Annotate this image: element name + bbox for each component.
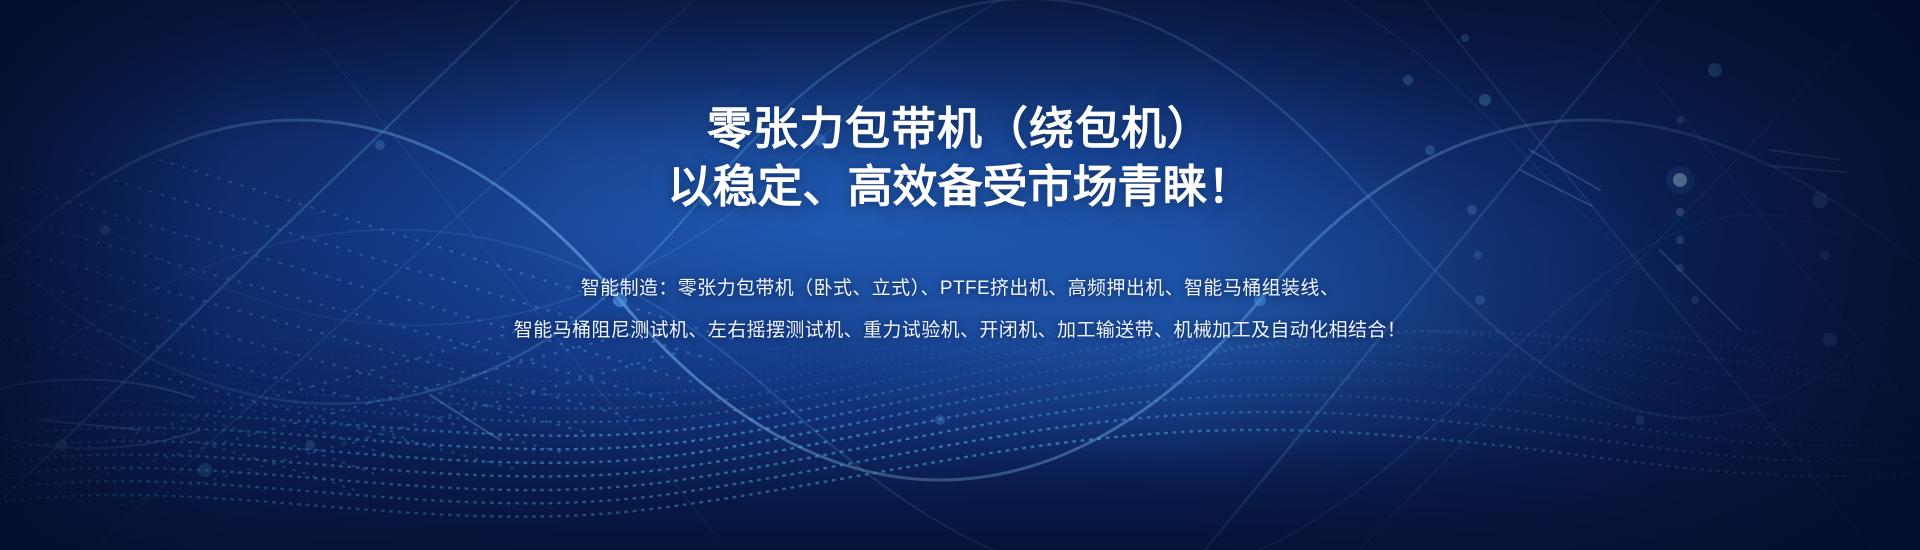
subtext-line-1: 智能制造：零张力包带机（卧式、立式）、PTFE挤出机、高频押出机、智能马桶组装线… xyxy=(514,268,1406,310)
subtext-line-2: 智能马桶阻尼测试机、左右摇摆测试机、重力试验机、开闭机、加工输送带、机械加工及自… xyxy=(514,310,1406,352)
headline-line-1: 零张力包带机（绕包机） xyxy=(667,100,1252,158)
banner-content: 零张力包带机（绕包机） 以稳定、高效备受市场青睐！ 智能制造：零张力包带机（卧式… xyxy=(0,0,1920,550)
banner-subtext: 智能制造：零张力包带机（卧式、立式）、PTFE挤出机、高频押出机、智能马桶组装线… xyxy=(514,268,1406,352)
promo-banner: 零张力包带机（绕包机） 以稳定、高效备受市场青睐！ 智能制造：零张力包带机（卧式… xyxy=(0,0,1920,550)
banner-headline: 零张力包带机（绕包机） 以稳定、高效备受市场青睐！ xyxy=(667,100,1252,216)
headline-line-2: 以稳定、高效备受市场青睐！ xyxy=(667,158,1252,216)
